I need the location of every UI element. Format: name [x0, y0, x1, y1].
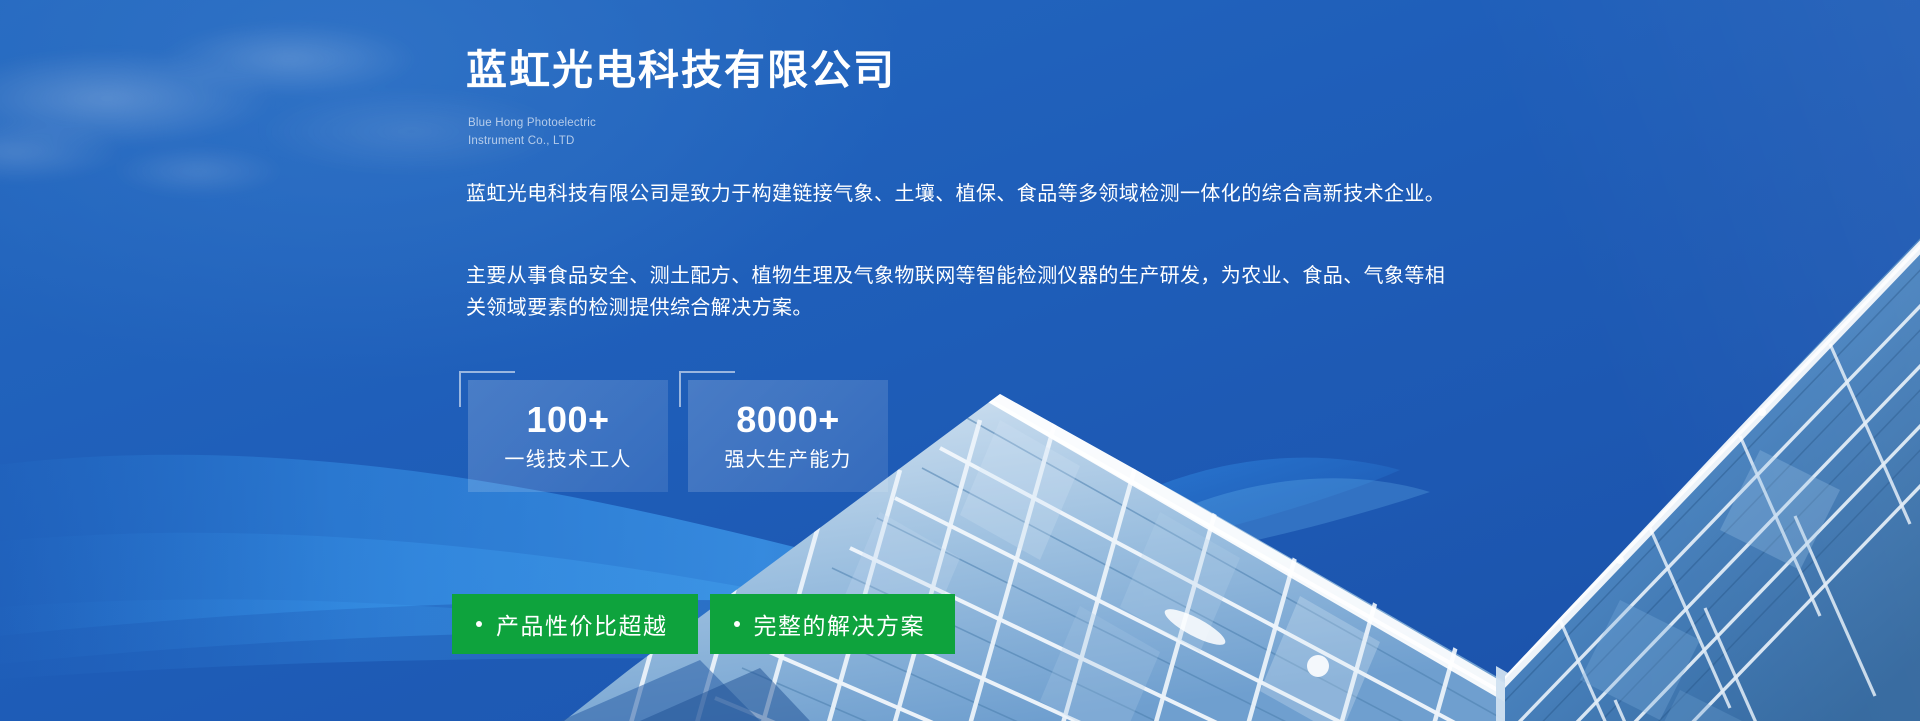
stat-label: 强大生产能力	[724, 450, 851, 470]
bullet-dot-icon	[476, 621, 482, 627]
intro-paragraph-2: 主要从事食品安全、测土配方、植物生理及气象物联网等智能检测仪器的生产研发，为农业…	[466, 260, 1446, 325]
feature-tag-solution: 完整的解决方案	[710, 594, 956, 654]
intro-paragraph-1: 蓝虹光电科技有限公司是致力于构建链接气象、土壤、植保、食品等多领域检测一体化的综…	[466, 178, 1446, 210]
hero-banner: 蓝虹光电科技有限公司 Blue Hong Photoelectric Instr…	[0, 0, 1920, 721]
stat-card-capacity: 8000+ 强大生产能力	[688, 380, 888, 492]
stat-value: 8000+	[736, 402, 840, 438]
subtitle-line-1: Blue Hong Photoelectric	[468, 115, 596, 133]
stat-value: 100+	[526, 402, 609, 438]
stats-group: 100+ 一线技术工人 8000+ 强大生产能力	[468, 380, 888, 492]
bullet-dot-icon	[734, 621, 740, 627]
hero-content: 蓝虹光电科技有限公司 Blue Hong Photoelectric Instr…	[466, 0, 1466, 721]
stat-card-workers: 100+ 一线技术工人	[468, 380, 668, 492]
subtitle-line-2: Instrument Co., LTD	[468, 133, 596, 151]
feature-tag-value: 产品性价比超越	[452, 594, 698, 654]
company-subtitle-en: Blue Hong Photoelectric Instrument Co., …	[468, 115, 596, 151]
feature-tag-label: 完整的解决方案	[754, 607, 926, 641]
company-title: 蓝虹光电科技有限公司	[466, 48, 896, 93]
feature-tags-group: 产品性价比超越 完整的解决方案	[452, 594, 955, 654]
stat-label: 一线技术工人	[504, 450, 631, 470]
feature-tag-label: 产品性价比超越	[496, 607, 668, 641]
